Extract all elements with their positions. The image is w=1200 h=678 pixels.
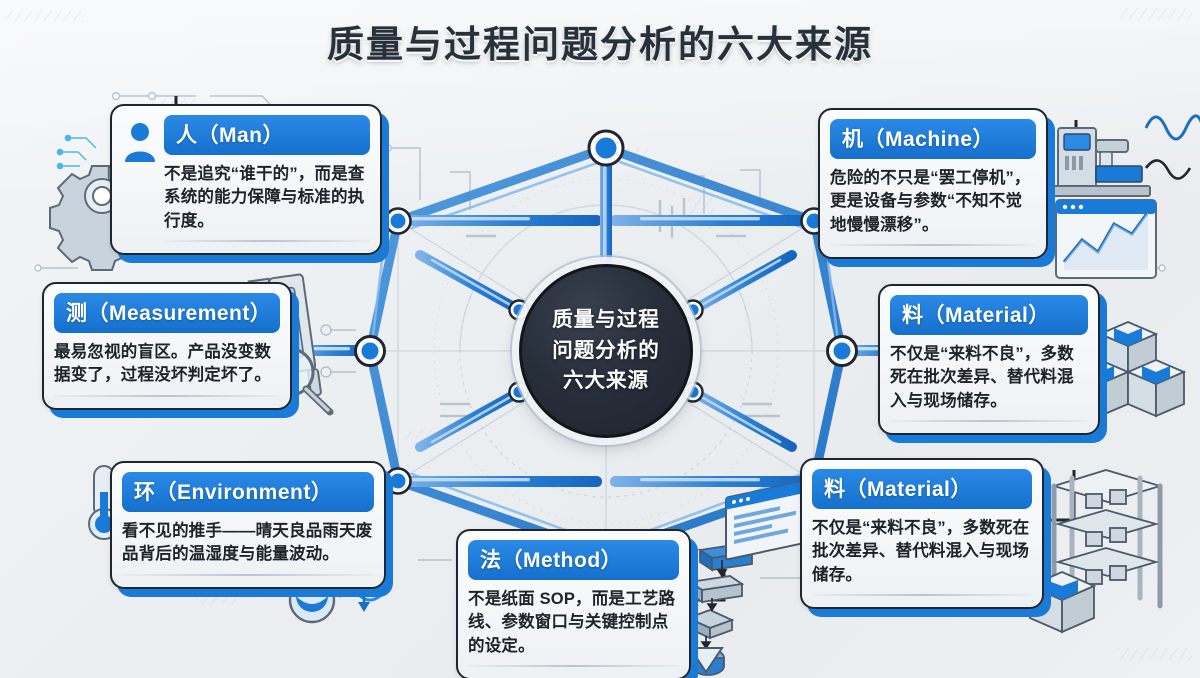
- card-man[interactable]: 人（Man） 不是追究“谁干的”，而是查系统的能力保障与标准的执行度。: [110, 104, 382, 255]
- hub-line-2: 问题分析的: [552, 336, 660, 367]
- card-environment-title: 环（Environment）: [122, 472, 374, 512]
- center-hub: 质量与过程 问题分析的 六大来源: [519, 264, 693, 438]
- card-material-bottom-right-body: 不仅是“来料不良”，多数死在批次差异、替代料混入与现场储存。: [812, 517, 1032, 587]
- card-machine-divider: [830, 244, 1036, 246]
- card-measurement[interactable]: 测（Measurement） 最易忽视的盲区。产品没变数据变了，过程没坏判定坏了…: [42, 282, 292, 410]
- hub-line-3: 六大来源: [552, 366, 660, 397]
- card-method-body: 不是纸面 SOP，而是工艺路线、参数窗口与关键控制点的设定。: [468, 588, 679, 658]
- card-machine-body: 危险的不只是“罢工停机”，更是设备与参数“不知不觉地慢慢漂移”。: [830, 167, 1036, 237]
- card-method[interactable]: 法（Method） 不是纸面 SOP，而是工艺路线、参数窗口与关键控制点的设定。: [456, 529, 691, 678]
- card-material-right-body: 不仅是“来料不良”，多数死在批次差异、替代料混入与现场储存。: [890, 343, 1088, 413]
- card-material-right-divider: [890, 420, 1088, 422]
- card-environment-divider: [122, 574, 374, 576]
- card-machine-title: 机（Machine）: [830, 119, 1036, 159]
- card-measurement-body: 最易忽视的盲区。产品没变数据变了，过程没坏判定坏了。: [54, 341, 280, 388]
- infographic-canvas: 质量与过程问题分析的六大来源 质量与过程 问题分析的 六大来源 人（Man） 不…: [0, 0, 1200, 678]
- card-environment[interactable]: 环（Environment） 看不见的推手——晴天良品雨天废品背后的温湿度与能量…: [110, 461, 386, 589]
- card-measurement-title: 测（Measurement）: [54, 293, 280, 333]
- center-hub-text: 质量与过程 问题分析的 六大来源: [552, 305, 660, 397]
- card-machine[interactable]: 机（Machine） 危险的不只是“罢工停机”，更是设备与参数“不知不觉地慢慢漂…: [818, 108, 1048, 259]
- card-method-divider: [468, 665, 679, 667]
- card-man-divider: [164, 240, 370, 242]
- card-material-bottom-right-title: 料（Material）: [812, 469, 1032, 509]
- card-material-right-title: 料（Material）: [890, 295, 1088, 335]
- person-icon: [123, 122, 157, 162]
- card-man-title: 人（Man）: [164, 115, 370, 155]
- page-title: 质量与过程问题分析的六大来源: [0, 14, 1200, 68]
- card-measurement-divider: [54, 395, 280, 397]
- card-material-bottom-right-divider: [812, 594, 1032, 596]
- card-material-bottom-right[interactable]: 料（Material） 不仅是“来料不良”，多数死在批次差异、替代料混入与现场储…: [800, 458, 1044, 609]
- hub-line-1: 质量与过程: [552, 305, 660, 336]
- warehouse-shelf-icon: [1030, 470, 1160, 632]
- cnc-machine-chart-icon: [1050, 116, 1200, 278]
- card-environment-body: 看不见的推手——晴天良品雨天废品背后的温湿度与能量波动。: [122, 520, 374, 567]
- card-method-title: 法（Method）: [468, 540, 679, 580]
- card-man-body: 不是追究“谁干的”，而是查系统的能力保障与标准的执行度。: [164, 163, 370, 233]
- card-material-right[interactable]: 料（Material） 不仅是“来料不良”，多数死在批次差异、替代料混入与现场储…: [878, 284, 1100, 435]
